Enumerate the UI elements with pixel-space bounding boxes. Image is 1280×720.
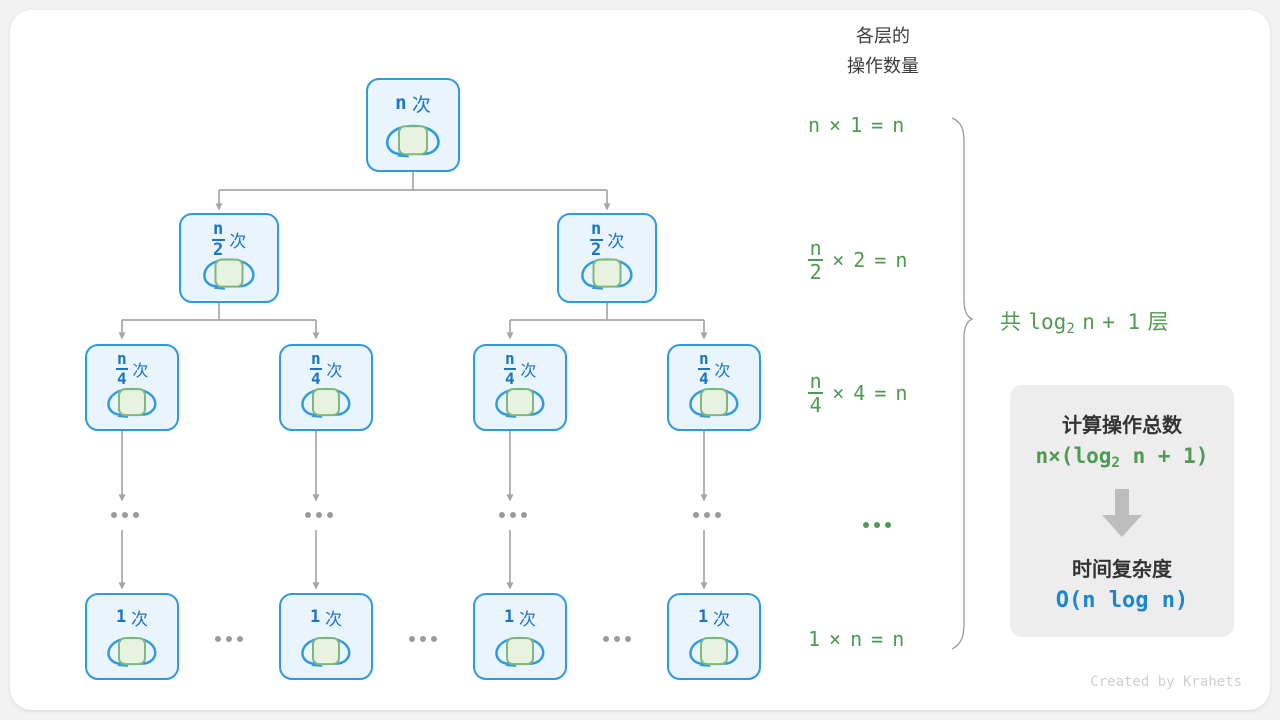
loop-arrow-icon bbox=[669, 628, 759, 671]
down-arrow-icon bbox=[1100, 489, 1144, 543]
node-count-value: 1 bbox=[698, 607, 708, 627]
brace-label: 共 log2 n + 1 层 bbox=[1000, 306, 1169, 337]
tree-node-level3-2[interactable]: n 4 次 bbox=[279, 344, 373, 431]
operation-square-icon bbox=[312, 637, 340, 665]
header-line-2: 操作数量 bbox=[788, 52, 978, 82]
count-factor: 1 bbox=[850, 113, 862, 137]
log-base: 2 bbox=[1066, 321, 1075, 337]
equals-sign: = bbox=[874, 381, 886, 405]
node-count-value: 1 bbox=[504, 607, 514, 627]
tree-node-level2-left[interactable]: n 2 次 bbox=[179, 213, 279, 303]
count-result: n bbox=[895, 248, 907, 272]
equals-sign: = bbox=[871, 627, 883, 651]
operation-square-icon bbox=[398, 126, 428, 156]
tree-node-level3-3[interactable]: n 4 次 bbox=[473, 344, 567, 431]
count-numerator: n bbox=[808, 113, 820, 137]
operation-square-icon bbox=[312, 388, 340, 416]
tree-node-level3-4[interactable]: n 4 次 bbox=[667, 344, 761, 431]
multiply-sign: × bbox=[832, 381, 844, 405]
right-column-header: 各层的 操作数量 bbox=[788, 22, 978, 82]
node-unit: 次 bbox=[714, 357, 730, 381]
operation-square-icon bbox=[506, 388, 534, 416]
multiply-sign: × bbox=[832, 248, 844, 272]
footer-credit: Created by Krahets bbox=[1090, 674, 1242, 690]
loop-arrow-icon bbox=[559, 249, 655, 294]
count-factor: 2 bbox=[853, 248, 865, 272]
equals-sign: = bbox=[874, 248, 886, 272]
loop-arrow-icon bbox=[87, 628, 177, 671]
equals-sign: = bbox=[871, 113, 883, 137]
node-unit: 次 bbox=[713, 605, 730, 630]
node-unit: 次 bbox=[519, 605, 536, 630]
loop-arrow-icon bbox=[669, 379, 759, 422]
tree-node-level4-1[interactable]: 1 次 bbox=[85, 593, 179, 680]
count-result: n bbox=[892, 627, 904, 651]
loop-arrow-icon bbox=[368, 116, 458, 163]
count-row-level3: n 4 × 4 = n bbox=[808, 371, 907, 415]
operation-square-icon bbox=[593, 258, 622, 287]
operation-square-icon bbox=[118, 637, 146, 665]
operation-square-icon bbox=[700, 637, 728, 665]
tree-ellipsis-between-2-3 bbox=[409, 636, 437, 642]
node-unit: 次 bbox=[325, 605, 342, 630]
loop-arrow-icon bbox=[87, 379, 177, 422]
fraction: n 4 bbox=[808, 371, 823, 415]
tree-node-level4-4[interactable]: 1 次 bbox=[667, 593, 761, 680]
loop-arrow-icon bbox=[281, 628, 371, 671]
tree-ellipsis-between-1-2 bbox=[215, 636, 243, 642]
panel-title-total: 计算操作总数 bbox=[1010, 409, 1234, 438]
count-row-level2: n 2 × 2 = n bbox=[808, 238, 907, 282]
multiply-sign: × bbox=[829, 627, 841, 651]
node-unit: 次 bbox=[131, 605, 148, 630]
loop-arrow-icon bbox=[475, 628, 565, 671]
node-count-value: n bbox=[395, 92, 406, 114]
count-factor: 4 bbox=[853, 381, 865, 405]
tree-ellipsis-col4 bbox=[693, 512, 721, 518]
operation-square-icon bbox=[215, 258, 244, 287]
operation-square-icon bbox=[506, 637, 534, 665]
loop-arrow-icon bbox=[181, 249, 277, 294]
count-ellipsis bbox=[863, 522, 891, 528]
operation-square-icon bbox=[700, 388, 728, 416]
header-line-1: 各层的 bbox=[788, 22, 978, 52]
tree-ellipsis-col3 bbox=[499, 512, 527, 518]
node-count-value: 1 bbox=[310, 607, 320, 627]
tree-node-level1[interactable]: n 次 bbox=[366, 78, 460, 172]
count-result: n bbox=[895, 381, 907, 405]
tree-ellipsis-col1 bbox=[111, 512, 139, 518]
panel-title-complexity: 时间复杂度 bbox=[1010, 553, 1234, 582]
multiply-sign: × bbox=[829, 113, 841, 137]
tree-node-level4-2[interactable]: 1 次 bbox=[279, 593, 373, 680]
log-base: 2 bbox=[1111, 455, 1120, 471]
diagram-card: n 次 n 2 次 bbox=[10, 10, 1270, 710]
tree-node-level2-right[interactable]: n 2 次 bbox=[557, 213, 657, 303]
node-unit: 次 bbox=[412, 90, 431, 117]
count-numerator: 1 bbox=[808, 627, 820, 651]
brace-plus-one: + 1 bbox=[1102, 310, 1140, 334]
brace-suffix: 层 bbox=[1148, 306, 1169, 336]
node-unit: 次 bbox=[326, 357, 342, 381]
loop-arrow-icon bbox=[281, 379, 371, 422]
node-unit: 次 bbox=[132, 357, 148, 381]
loop-arrow-icon bbox=[475, 379, 565, 422]
brace-log: log2 bbox=[1028, 310, 1075, 337]
fraction: n 2 bbox=[808, 238, 823, 282]
count-result: n bbox=[892, 113, 904, 137]
tree-node-level4-3[interactable]: 1 次 bbox=[473, 593, 567, 680]
tree-ellipsis-between-3-4 bbox=[603, 636, 631, 642]
tree-node-level3-1[interactable]: n 4 次 bbox=[85, 344, 179, 431]
brace-arg: n bbox=[1082, 310, 1095, 334]
count-factor: n bbox=[850, 627, 862, 651]
tree-ellipsis-col2 bbox=[305, 512, 333, 518]
brace-prefix: 共 bbox=[1000, 306, 1021, 336]
operation-square-icon bbox=[118, 388, 146, 416]
panel-complexity-value: O(n log n) bbox=[1010, 588, 1234, 613]
node-unit: 次 bbox=[520, 357, 536, 381]
panel-formula: n×(log2 n + 1) bbox=[1010, 444, 1234, 471]
count-row-level1: n × 1 = n bbox=[808, 113, 904, 137]
node-label: n 次 bbox=[368, 88, 458, 118]
node-count-value: 1 bbox=[116, 607, 126, 627]
count-row-level4: 1 × n = n bbox=[808, 627, 904, 651]
summary-panel: 计算操作总数 n×(log2 n + 1) 时间复杂度 O(n log n) bbox=[1010, 385, 1234, 637]
